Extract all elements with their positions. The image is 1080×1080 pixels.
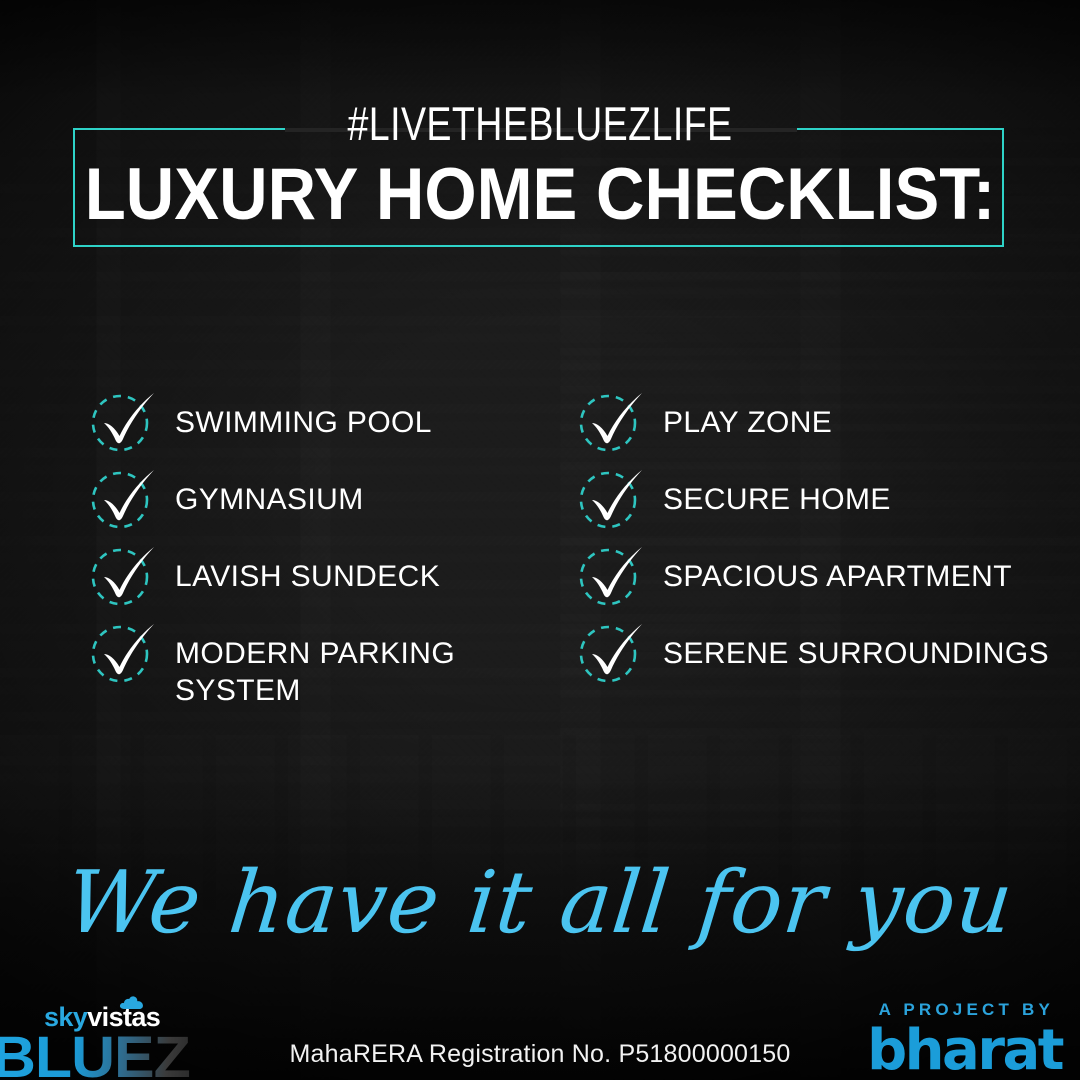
checklist-item: SERENE SURROUNDINGS (580, 626, 1049, 684)
checklist-item: SECURE HOME (580, 472, 891, 530)
check-icon-wrap (580, 470, 640, 530)
check-mark-icon (576, 612, 652, 688)
check-icon-wrap (580, 624, 640, 684)
check-mark-icon (88, 535, 164, 611)
check-mark-icon (88, 612, 164, 688)
cloud-icon (119, 995, 145, 1010)
check-mark-icon (576, 381, 652, 457)
checklist-item: GYMNASIUM (92, 472, 364, 530)
checklist: SWIMMING POOLGYMNASIUMLAVISH SUNDECKMODE… (0, 395, 1080, 715)
check-icon-wrap (92, 393, 152, 453)
poster-canvas: #LIVETHEBLUEZLIFE LUXURY HOME CHECKLIST:… (0, 0, 1080, 1080)
page-title: LUXURY HOME CHECKLIST: (43, 158, 1037, 231)
check-icon-wrap (92, 624, 152, 684)
check-icon-wrap (580, 547, 640, 607)
check-mark-icon (88, 381, 164, 457)
tagline-script: We have it all for you (0, 858, 1080, 948)
checklist-item: SWIMMING POOL (92, 395, 432, 453)
check-mark-icon (576, 458, 652, 534)
checklist-item-label: MODERN PARKING SYSTEM (175, 635, 455, 709)
checklist-item-label: PLAY ZONE (663, 404, 832, 441)
check-mark-icon (576, 535, 652, 611)
check-icon-wrap (580, 393, 640, 453)
check-icon-wrap (92, 547, 152, 607)
checklist-item-label: SERENE SURROUNDINGS (663, 635, 1049, 672)
checklist-item-label: SPACIOUS APARTMENT (663, 558, 1012, 595)
checklist-item: PLAY ZONE (580, 395, 832, 453)
project-by-label: A PROJECT BY (879, 1000, 1054, 1020)
checklist-item-label: GYMNASIUM (175, 481, 364, 518)
check-mark-icon (88, 458, 164, 534)
bharat-logo: bharat (867, 1022, 1062, 1080)
check-icon-wrap (92, 470, 152, 530)
checklist-item: LAVISH SUNDECK (92, 549, 440, 607)
checklist-item-label: SECURE HOME (663, 481, 891, 518)
checklist-item: SPACIOUS APARTMENT (580, 549, 1012, 607)
checklist-item: MODERN PARKING SYSTEM (92, 626, 455, 709)
checklist-item-label: SWIMMING POOL (175, 404, 432, 441)
checklist-item-label: LAVISH SUNDECK (175, 558, 440, 595)
skyvistas-sky-text: sky (44, 1002, 87, 1032)
hashtag-text: #LIVETHEBLUEZLIFE (108, 100, 972, 147)
